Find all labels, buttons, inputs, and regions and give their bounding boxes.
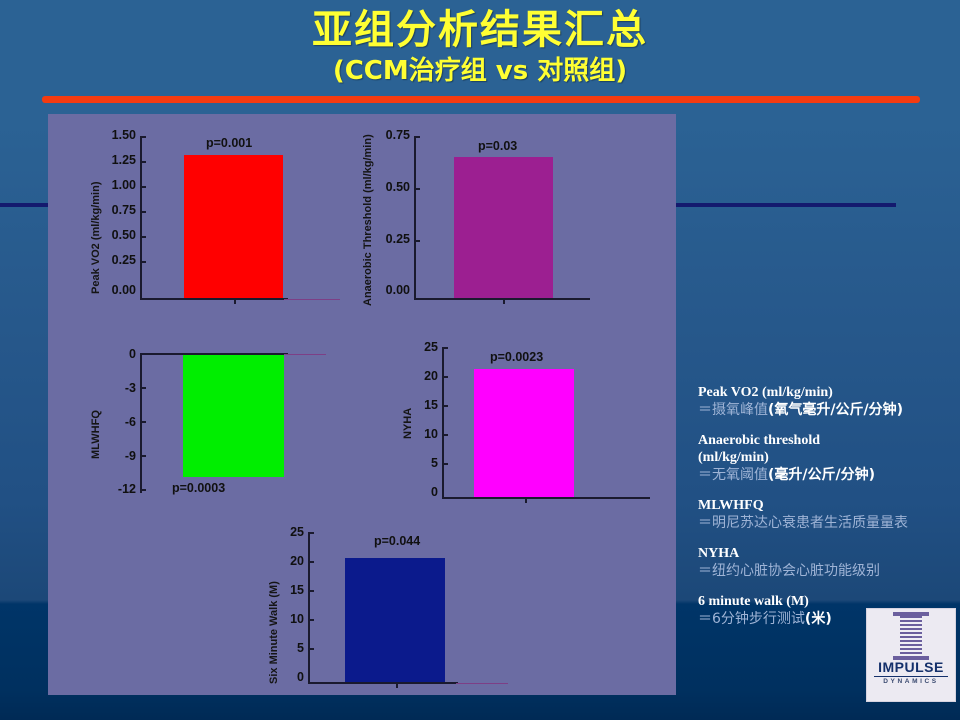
column-icon [891, 612, 931, 660]
y-tick [309, 590, 314, 592]
legend-item-mlwhfq: MLWHFQ ＝明尼苏达心衰患者生活质量量表 [698, 497, 956, 532]
x-axis-extension [284, 354, 326, 355]
chart-anaerobic-threshold: Anaerobic Threshold (ml/kg/min) 0.75 0.5… [348, 114, 658, 314]
y-tick-label: 10 [274, 612, 304, 626]
chart-mlwhfq: MLWHFQ 0 -3 -6 -9 -12 p=0.0003 [48, 319, 348, 504]
y-tick-label: 0.25 [370, 232, 410, 246]
slide-canvas: 亚组分析结果汇总 (CCM治疗组 vs 对照组) Peak VO2 (ml/kg… [0, 0, 960, 720]
chart-peak-vo2: Peak VO2 (ml/kg/min) 1.50 1.25 1.00 0.75… [48, 114, 348, 314]
logo-divider [874, 676, 948, 677]
y-axis [414, 136, 416, 300]
legend-translation: ＝明尼苏达心衰患者生活质量量表 [698, 514, 956, 532]
y-tick [141, 211, 146, 213]
y-tick-label: 5 [274, 641, 304, 655]
y-tick-label: 0.50 [96, 228, 136, 242]
x-axis [414, 298, 590, 300]
chart-six-minute-walk-pvalue: p=0.044 [374, 534, 420, 548]
y-tick-label: 20 [274, 554, 304, 568]
legend-translation-unit: (毫升/公斤/分钟) [768, 467, 875, 483]
y-axis [442, 347, 444, 499]
y-tick [309, 561, 314, 563]
page-subtitle: (CCM治疗组 vs 对照组) [0, 56, 960, 86]
y-tick [141, 489, 146, 491]
y-tick-label: 0 [274, 670, 304, 684]
y-tick [309, 619, 314, 621]
bar-peak-vo2 [184, 155, 283, 298]
legend-translation-unit: (米) [805, 611, 832, 627]
y-tick-label: -6 [100, 415, 136, 429]
bar-mlwhfq [183, 355, 284, 477]
y-tick [141, 261, 146, 263]
bar-six-minute-walk [345, 558, 445, 682]
y-tick [415, 240, 420, 242]
column-cap-bottom-icon [893, 656, 929, 660]
y-tick-label: 0.75 [96, 203, 136, 217]
y-tick [443, 347, 448, 349]
y-tick-label: 20 [408, 369, 438, 383]
legend-translation: ＝无氧阈值(毫升/公斤/分钟) [698, 466, 956, 484]
y-tick-label: 0.50 [370, 180, 410, 194]
x-tick [503, 299, 505, 304]
legend-translation: ＝纽约心脏协会心脏功能级别 [698, 562, 956, 580]
x-axis [140, 298, 288, 300]
x-axis [308, 682, 458, 684]
y-tick [141, 236, 146, 238]
y-tick [443, 434, 448, 436]
legend-item-peak-vo2: Peak VO2 (ml/kg/min) ＝摄氧峰值(氧气毫升/公斤/分钟) [698, 384, 956, 419]
y-tick [141, 421, 146, 423]
x-tick [234, 299, 236, 304]
x-axis-extension [284, 299, 340, 300]
legend-translation-text: ＝摄氧峰值 [698, 402, 768, 418]
charts-panel: Peak VO2 (ml/kg/min) 1.50 1.25 1.00 0.75… [48, 114, 676, 695]
legend-term-line2: (ml/kg/min) [698, 449, 956, 466]
orange-divider [42, 96, 920, 103]
y-tick-label: 25 [274, 525, 304, 539]
column-shaft-icon [900, 616, 922, 656]
y-tick-label: 0.75 [370, 128, 410, 142]
legend-term: Peak VO2 (ml/kg/min) [698, 384, 956, 401]
logo-subname: DYNAMICS [883, 678, 938, 685]
y-tick-label: 5 [408, 456, 438, 470]
x-axis [442, 497, 650, 499]
legend-term: NYHA [698, 545, 956, 562]
y-tick [415, 188, 420, 190]
y-tick [141, 136, 146, 138]
chart-nyha: NYHA 25 20 15 10 5 0 p=0.0023 [378, 319, 658, 504]
y-tick [141, 186, 146, 188]
y-tick-label: -12 [96, 482, 136, 496]
legend-term: MLWHFQ [698, 497, 956, 514]
y-tick [443, 376, 448, 378]
chart-mlwhfq-pvalue: p=0.0003 [172, 481, 225, 495]
y-tick-label: 1.50 [96, 128, 136, 142]
y-tick-label: 25 [408, 340, 438, 354]
y-tick-label: 0.25 [96, 253, 136, 267]
y-axis [140, 353, 142, 493]
y-tick-label: 0 [408, 485, 438, 499]
legend-translation-text: ＝无氧阈值 [698, 467, 768, 483]
x-axis [140, 353, 288, 355]
chart-six-minute-walk: Six Minute Walk (M) 25 20 15 10 5 0 p=0.… [198, 504, 528, 694]
impulse-dynamics-logo: IMPULSE DYNAMICS [866, 608, 956, 702]
y-tick-label: 1.00 [96, 178, 136, 192]
bar-anaerobic-threshold [454, 157, 553, 298]
legend-term: Anaerobic threshold [698, 432, 956, 449]
y-tick-label: -9 [100, 449, 136, 463]
x-tick [396, 683, 398, 688]
legend-item-anaerobic-threshold: Anaerobic threshold (ml/kg/min) ＝无氧阈值(毫升… [698, 432, 956, 484]
chart-nyha-pvalue: p=0.0023 [490, 350, 543, 364]
legend-item-nyha: NYHA ＝纽约心脏协会心脏功能级别 [698, 545, 956, 580]
y-tick-label: 10 [408, 427, 438, 441]
page-title: 亚组分析结果汇总 [0, 8, 960, 52]
y-tick-label: 0 [100, 347, 136, 361]
chart-peak-vo2-pvalue: p=0.001 [206, 136, 252, 150]
glossary-legend: Peak VO2 (ml/kg/min) ＝摄氧峰值(氧气毫升/公斤/分钟) A… [698, 384, 956, 641]
chart-anaerobic-threshold-pvalue: p=0.03 [478, 139, 517, 153]
y-tick [415, 136, 420, 138]
y-tick-label: 0.00 [96, 283, 136, 297]
y-tick-label: 15 [408, 398, 438, 412]
legend-translation-text: ＝6分钟步行测试 [698, 611, 805, 627]
x-axis-extension [456, 683, 508, 684]
y-tick [141, 161, 146, 163]
y-tick [141, 387, 146, 389]
logo-name: IMPULSE [878, 660, 944, 675]
y-tick [309, 532, 314, 534]
legend-translation: ＝摄氧峰值(氧气毫升/公斤/分钟) [698, 401, 956, 419]
y-tick-label: -3 [100, 381, 136, 395]
y-axis [308, 532, 310, 684]
y-tick [141, 455, 146, 457]
y-tick-label: 0.00 [370, 283, 410, 297]
y-tick [443, 463, 448, 465]
y-tick-label: 15 [274, 583, 304, 597]
y-tick [309, 648, 314, 650]
bar-nyha [474, 369, 574, 497]
chart-anaerobic-threshold-ylabel: Anaerobic Threshold (ml/kg/min) [362, 134, 374, 306]
y-tick-label: 1.25 [96, 153, 136, 167]
legend-translation-unit: (氧气毫升/公斤/分钟) [768, 402, 903, 418]
x-tick [525, 498, 527, 503]
y-tick [443, 405, 448, 407]
